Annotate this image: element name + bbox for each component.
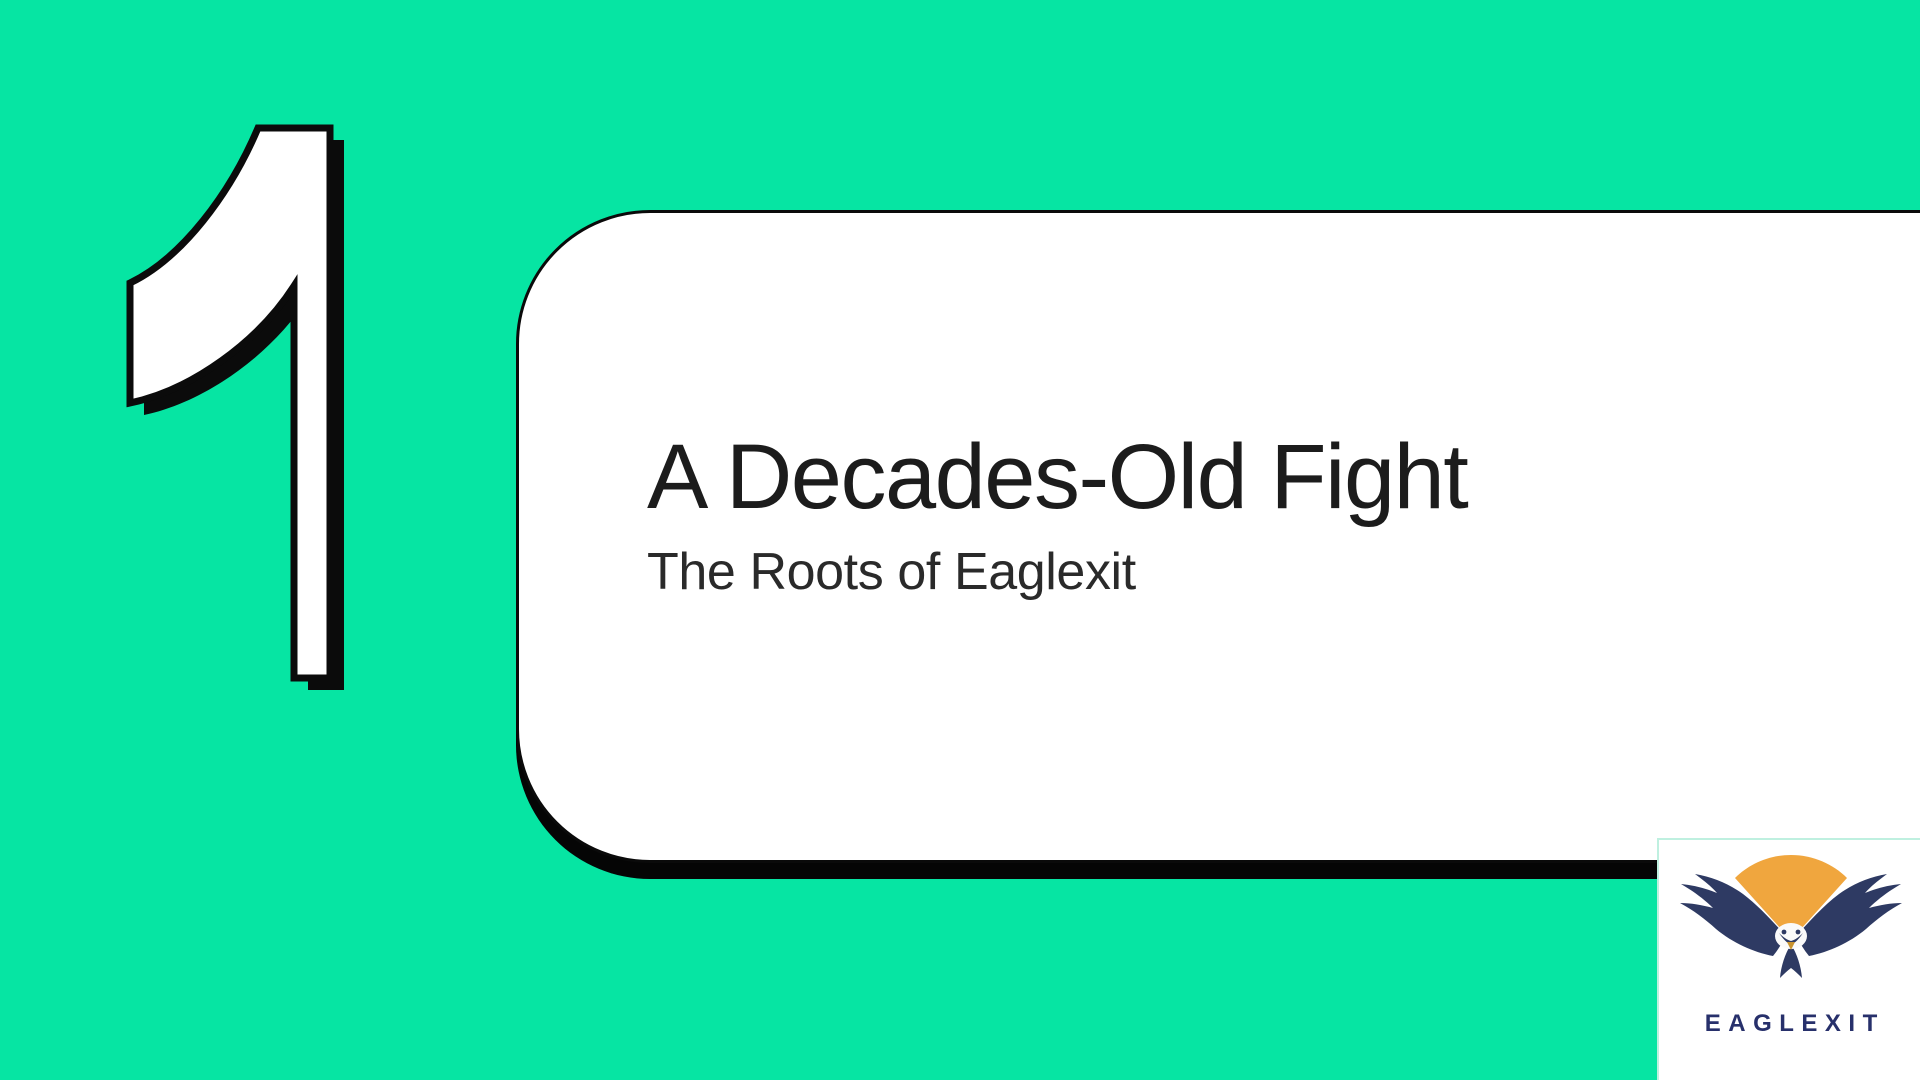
eaglexit-wordmark: EAGLEXIT [1697, 1010, 1885, 1038]
eagle-with-sun-icon [1673, 844, 1909, 994]
title-card-content: A Decades-Old Fight The Roots of Eaglexi… [647, 431, 1747, 601]
page-title: A Decades-Old Fight [647, 431, 1747, 525]
slide-root: A Decades-Old Fight The Roots of Eaglexi… [0, 0, 1920, 1080]
eaglexit-logo-badge: EAGLEXIT [1657, 838, 1920, 1080]
title-card: A Decades-Old Fight The Roots of Eaglexi… [516, 210, 1920, 863]
step-number-1 [62, 118, 442, 678]
page-subtitle: The Roots of Eaglexit [647, 543, 1747, 601]
